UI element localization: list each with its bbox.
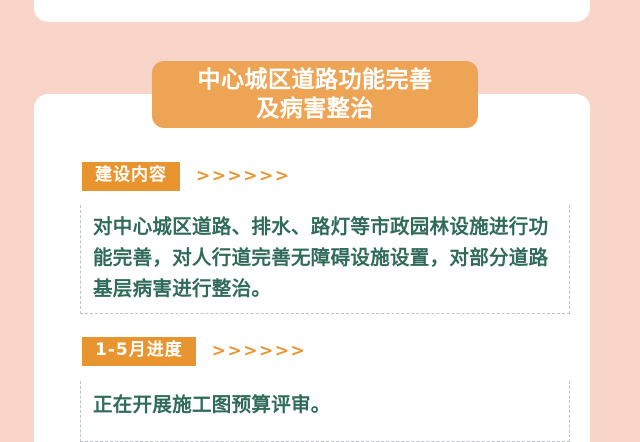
section-header-progress: 1-5月进度 >>>>>>: [82, 337, 306, 366]
chevrons-icon: >>>>>>: [212, 341, 306, 361]
body-text-progress: 正在开展施工图预算评审。: [93, 390, 561, 421]
chevrons-icon: >>>>>>: [196, 166, 290, 186]
section-badge-progress: 1-5月进度: [82, 337, 196, 366]
project-title-line-1: 中心城区道路功能完善: [198, 67, 433, 93]
project-title-line-2: 及病害整治: [256, 96, 374, 122]
page-background: 中心城区道路功能完善 及病害整治 建设内容 >>>>>> 对中心城区道路、排水、…: [0, 0, 640, 442]
project-title: 中心城区道路功能完善 及病害整治: [198, 66, 433, 122]
section-badge-construction-content: 建设内容: [82, 162, 180, 191]
section-header-construction-content: 建设内容 >>>>>>: [82, 162, 290, 191]
previous-card-fragment: [34, 0, 590, 22]
project-title-pill: 中心城区道路功能完善 及病害整治: [152, 61, 478, 128]
body-text-construction-content: 对中心城区道路、排水、路灯等市政园林设施进行功能完善，对人行道完善无障碍设施设置…: [93, 212, 561, 304]
